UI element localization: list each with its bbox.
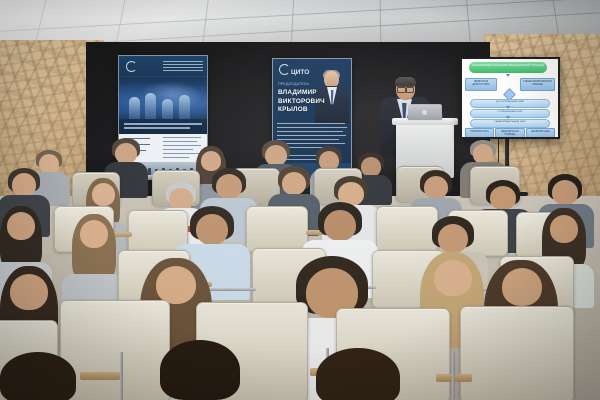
cito-ring-icon (126, 61, 137, 72)
banner-center-name: ВЛАДИМИР ВИКТОРОВИЧ КРЫЛОВ (278, 89, 326, 115)
slide-top-box-1: ПЕРВИЧНАЯ ДИАГНОСТИКА (465, 78, 497, 91)
slide-bottom-box-1: ПРОФИЛАКТИКА (465, 128, 494, 137)
slide-bottom-box-3: РЕАБИЛИТАЦИЯ (526, 128, 555, 137)
slide-stage-2: ГОСПИТАЛЬНЫЙ ЭТАП (470, 109, 550, 118)
chair (376, 206, 438, 252)
eyeglasses-icon (397, 86, 414, 91)
banner-center-logo: ЦИТО (279, 64, 309, 78)
banner-left-photo (119, 77, 207, 119)
slide-top-box-2: СПЕЦИАЛИЗИРОВАННАЯ ПОМОЩЬ (520, 78, 555, 91)
chair-armrest (80, 372, 120, 380)
slide-title: ОРГАНИЗАЦИЯ ОКАЗАНИЯ МЕДИЦИНСКОЙ ПОМОЩИ (469, 62, 547, 73)
banner-center-pretitle: ПРЕДСЕДАТЕЛЬ (278, 82, 309, 86)
chair (460, 306, 574, 400)
banner-left-caption (119, 119, 207, 134)
slide-stage-1: ДОГОСПИТАЛЬНЫЙ ЭТАП (470, 99, 550, 108)
conference-photo: ЦИТО (0, 0, 600, 400)
chair-leg (120, 352, 123, 400)
laptop-logo-icon (422, 110, 427, 115)
chair (246, 206, 308, 252)
presentation-display: ОРГАНИЗАЦИЯ ОКАЗАНИЯ МЕДИЦИНСКОЙ ПОМОЩИ … (460, 57, 560, 139)
slide-bottom-box-2: МЕДИЦИНСКАЯ ПОМОЩЬ (495, 128, 525, 137)
presentation-slide: ОРГАНИЗАЦИЯ ОКАЗАНИЯ МЕДИЦИНСКОЙ ПОМОЩИ … (462, 59, 558, 137)
chair (60, 300, 170, 400)
banner-left-logo: ЦИТО (126, 61, 156, 72)
chair-leg (452, 352, 455, 400)
banner-left-headline (163, 61, 203, 71)
slide-stage-3: РЕАБИЛИТАЦИОННЫЙ ЭТАП (470, 119, 550, 128)
cito-ring-icon (279, 64, 290, 75)
